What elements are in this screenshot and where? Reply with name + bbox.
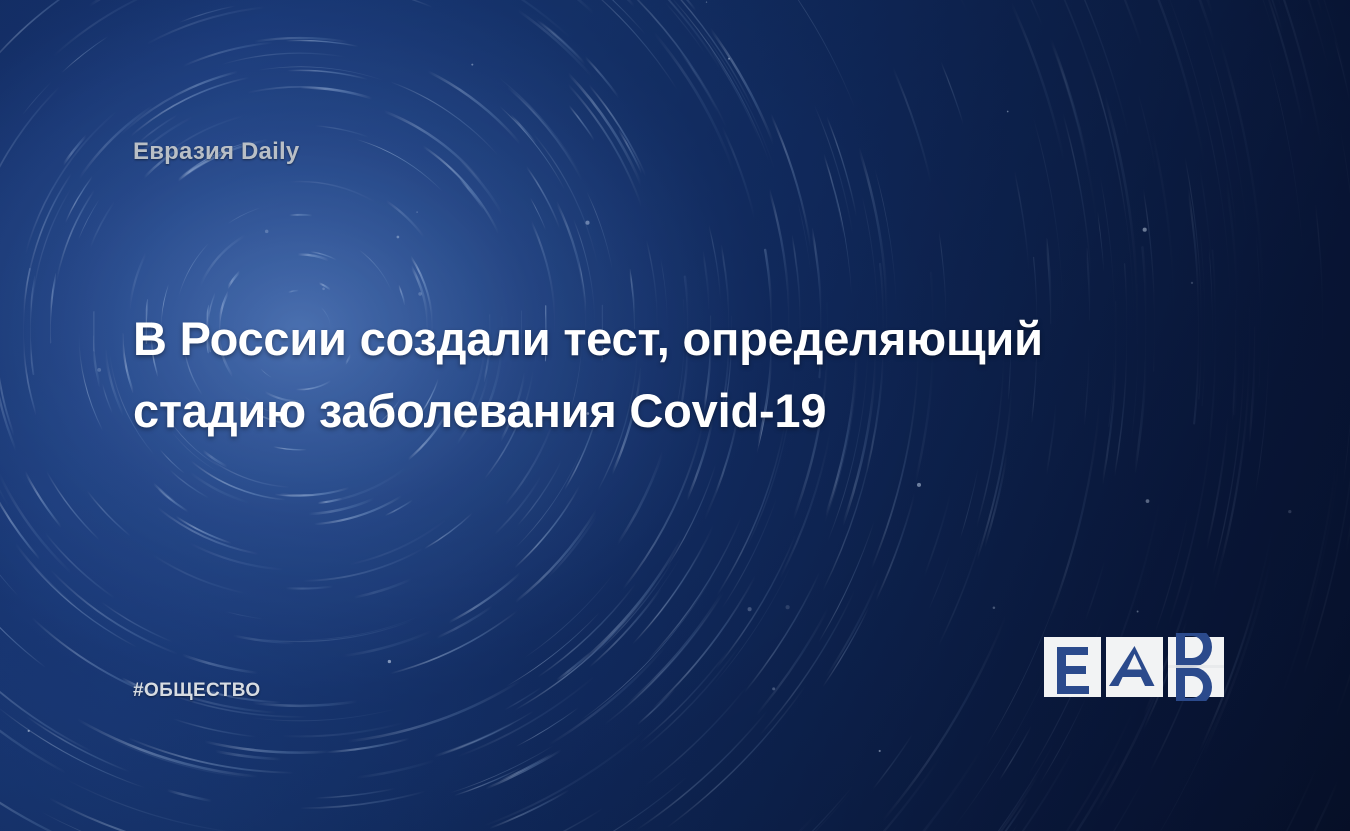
logo-tile-d bbox=[1168, 633, 1224, 701]
logo-tile-e bbox=[1044, 637, 1101, 697]
category-tag[interactable]: #ОБЩЕСТВО bbox=[133, 680, 261, 702]
publisher-brand-label: Евразия Daily bbox=[133, 138, 299, 166]
article-headline: В России создали тест, определяющий стад… bbox=[133, 303, 1208, 446]
logo-tile-a bbox=[1106, 637, 1163, 697]
card-content: Евразия Daily В России создали тест, опр… bbox=[0, 0, 1350, 831]
news-card: Евразия Daily В России создали тест, опр… bbox=[0, 0, 1350, 831]
eadaily-logo[interactable] bbox=[1044, 633, 1224, 701]
